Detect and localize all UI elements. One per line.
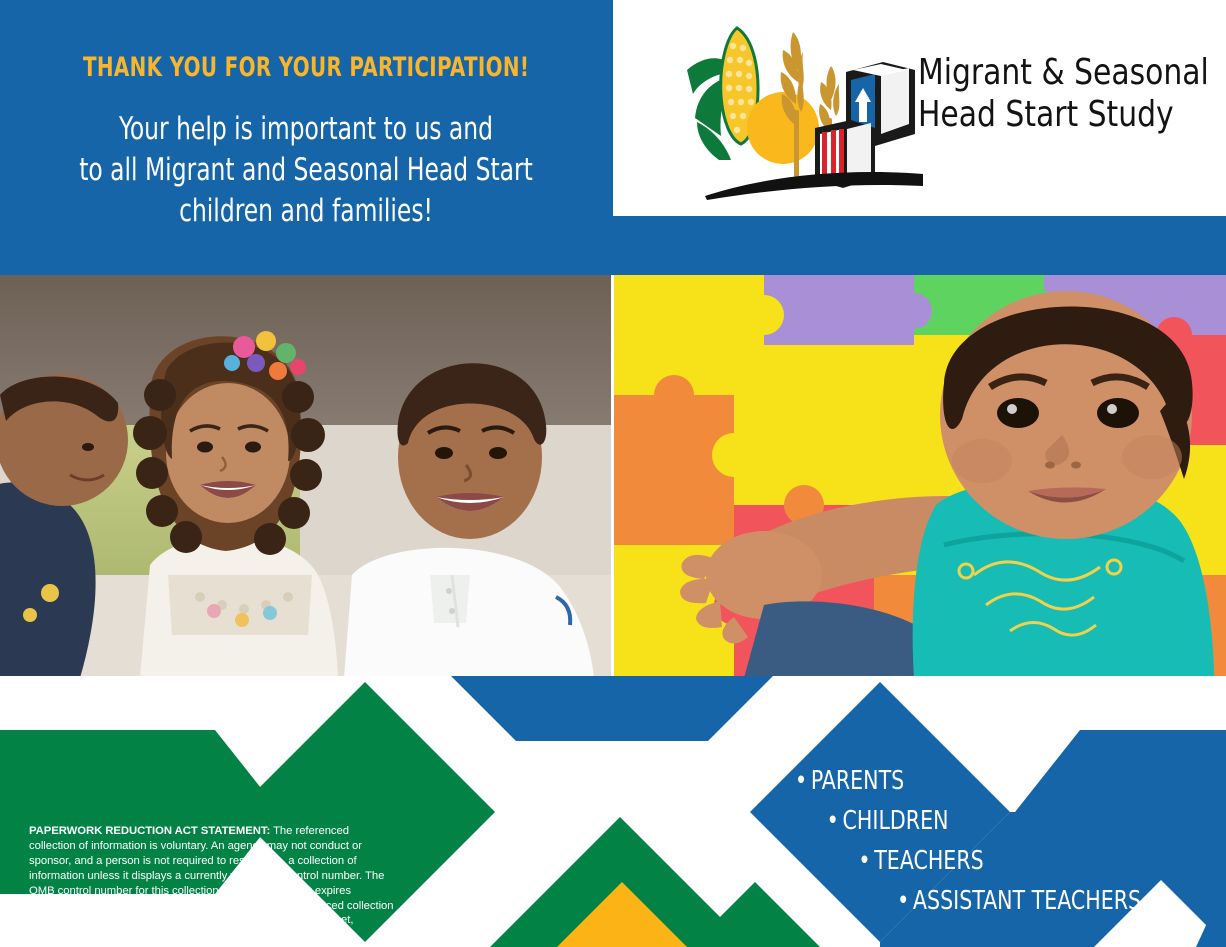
audience-list: •PARENTS •CHILDREN •TEACHERS •ASSISTANT … xyxy=(795,768,1215,928)
list-item-label: PARENTS xyxy=(811,766,904,796)
subheading-line-2: to all Migrant and Seasonal Head Start xyxy=(80,150,534,191)
statement-label: PAPERWORK REDUCTION ACT STATEMENT: xyxy=(29,825,270,837)
list-item: •CHILDREN xyxy=(795,808,1165,834)
program-logo: Migrant & Seasonal Head Start Study xyxy=(613,0,1226,216)
paperwork-reduction-act-statement: PAPERWORK REDUCTION ACT STATEMENT: The r… xyxy=(29,824,397,943)
logo-title: Migrant & Seasonal Head Start Study xyxy=(918,52,1194,137)
photo-children-group-art xyxy=(0,275,611,678)
subheading-line-1: Your help is important to us and xyxy=(80,109,534,150)
bullet-icon: • xyxy=(795,768,811,794)
headline-block: THANK YOU FOR YOUR PARTICIPATION! Your h… xyxy=(0,0,613,275)
logo-artwork xyxy=(675,10,925,200)
list-item: •PARENTS xyxy=(795,768,1165,794)
subheading-line-3: children and families! xyxy=(80,191,534,232)
bullet-icon: • xyxy=(897,888,913,914)
list-item: •TEACHERS xyxy=(795,848,1165,874)
photo-children-group xyxy=(0,275,611,678)
bullet-icon: • xyxy=(858,848,874,874)
poster-page: THANK YOU FOR YOUR PARTICIPATION! Your h… xyxy=(0,0,1226,947)
list-item-label: TEACHERS xyxy=(874,846,983,876)
logo-title-line-1: Migrant & Seasonal xyxy=(918,52,1194,94)
photo-strip xyxy=(0,275,1226,678)
bullet-icon: • xyxy=(827,808,843,834)
subheading: Your help is important to us and to all … xyxy=(80,83,534,233)
statement-body: The referenced collection of information… xyxy=(29,825,394,941)
page-title: THANK YOU FOR YOUR PARTICIPATION! xyxy=(83,52,529,83)
logo-title-line-2: Head Start Study xyxy=(918,94,1194,136)
list-item-label: CHILDREN xyxy=(843,806,949,836)
list-item: •ASSISTANT TEACHERS xyxy=(795,888,1165,914)
photo-infant-art xyxy=(614,275,1226,678)
list-item-label: ASSISTANT TEACHERS xyxy=(913,886,1141,916)
hill-icon xyxy=(705,172,923,200)
photo-infant xyxy=(614,275,1226,678)
